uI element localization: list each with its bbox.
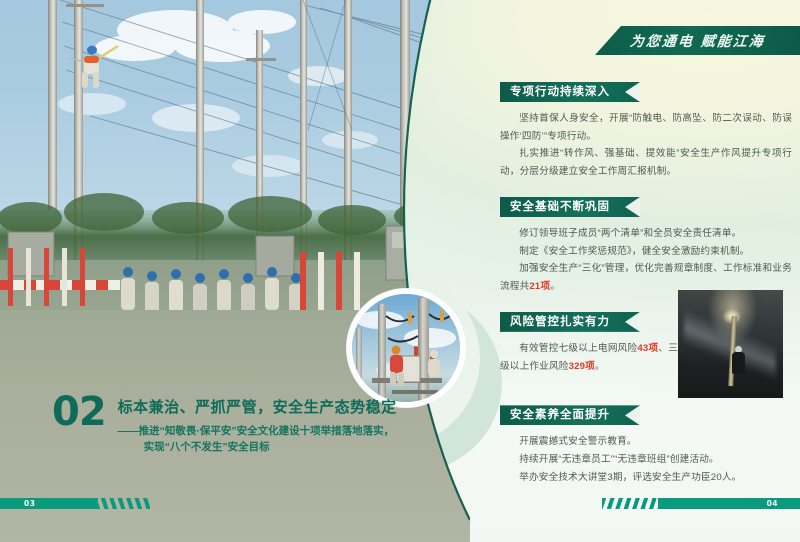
inset-photo <box>352 294 460 402</box>
block-label-wrap: 安全基础不断巩固 <box>500 197 640 217</box>
night-work-photo <box>678 290 783 398</box>
block-label: 安全基础不断巩固 <box>500 197 640 217</box>
hero-photo <box>0 0 470 542</box>
footer-stripes-icon <box>602 498 660 509</box>
section-subtitle-line-1: ——推进“知敬畏·保平安”安全文化建设十项举措落地落实， <box>118 425 395 437</box>
section-number: 02 <box>52 392 106 432</box>
brochure-spread: 02 标本兼治、严抓严管，安全生产态势稳定 ——推进“知敬畏·保平安”安全文化建… <box>0 0 800 542</box>
highlight-number: 43项 <box>637 343 658 354</box>
highlight-number: 329项 <box>569 361 595 372</box>
block-body: 坚持首保人身安全，开展“防触电、防高坠、防二次误动、防误操作‘四防’”专项行动。… <box>500 110 792 181</box>
section-headline: 02 标本兼治、严抓严管，安全生产态势稳定 ——推进“知敬畏·保平安”安全文化建… <box>52 392 397 456</box>
page-number-right: 04 <box>767 498 778 509</box>
header-ribbon: 为您通电 赋能江海 <box>595 26 800 55</box>
footer-stripes-icon <box>96 498 150 509</box>
block-label-wrap: 安全素养全面提升 <box>500 405 640 425</box>
content-block-safety-foundation: 安全基础不断巩固 修订领导班子成员“两个清单”和全员安全责任清单。 制定《安全工… <box>500 197 792 296</box>
page-number-left: 03 <box>24 498 35 509</box>
highlight-number: 21项 <box>529 281 550 292</box>
block-body: 有效管控七级以上电网风险43项、三级以上作业风险329项。 <box>500 340 678 375</box>
section-subtitle: ——推进“知敬畏·保平安”安全文化建设十项举措落地落实， 实现“八个不发生”安全… <box>118 423 397 456</box>
section-headline-texts: 标本兼治、严抓严管，安全生产态势稳定 ——推进“知敬畏·保平安”安全文化建设十项… <box>118 392 397 456</box>
content-block-special-action: 专项行动持续深入 坚持首保人身安全，开展“防触电、防高坠、防二次误动、防误操作‘… <box>500 82 792 181</box>
footer-bar <box>658 498 800 509</box>
block-paragraph: 修订领导班子成员“两个清单”和全员安全责任清单。 <box>500 225 792 243</box>
footer-right: 04 <box>600 498 800 509</box>
block-paragraph: 开展震撼式安全警示教育。 <box>500 433 792 451</box>
block-body: 修订领导班子成员“两个清单”和全员安全责任清单。 制定《安全工作奖惩规范》，健全… <box>500 225 792 296</box>
block-paragraph: 有效管控七级以上电网风险43项、三级以上作业风险329项。 <box>500 340 678 375</box>
content-block-safety-literacy: 安全素养全面提升 开展震撼式安全警示教育。 持续开展“无违章员工”“无违章班组”… <box>500 405 792 486</box>
block-label-wrap: 专项行动持续深入 <box>500 82 640 102</box>
block-paragraph: 制定《安全工作奖惩规范》，健全安全激励约束机制。 <box>500 243 792 261</box>
block-paragraph: 扎实推进“转作风、强基础、提效能”安全生产作风提升专项行动，分层分级建立安全工作… <box>500 145 792 180</box>
block-label-wrap: 风险管控扎实有力 <box>500 312 640 332</box>
footer-left: 03 <box>0 498 152 509</box>
footer-bar <box>0 498 98 509</box>
section-title: 标本兼治、严抓严管，安全生产态势稳定 <box>118 396 397 417</box>
block-paragraph: 举办安全技术大讲堂3期，评选安全生产功臣20人。 <box>500 469 792 487</box>
header-ribbon-text: 为您通电 赋能江海 <box>629 31 766 51</box>
worker-body <box>732 352 745 374</box>
section-subtitle-line-2: 实现“八个不发生”安全目标 <box>118 439 397 455</box>
block-label: 风险管控扎实有力 <box>500 312 640 332</box>
block-body: 开展震撼式安全警示教育。 持续开展“无违章员工”“无违章班组”创建活动。 举办安… <box>500 433 792 486</box>
block-paragraph: 坚持首保人身安全，开展“防触电、防高坠、防二次误动、防误操作‘四防’”专项行动。 <box>500 110 792 145</box>
block-label: 专项行动持续深入 <box>500 82 640 102</box>
block-label: 安全素养全面提升 <box>500 405 640 425</box>
block-paragraph: 持续开展“无违章员工”“无违章班组”创建活动。 <box>500 451 792 469</box>
